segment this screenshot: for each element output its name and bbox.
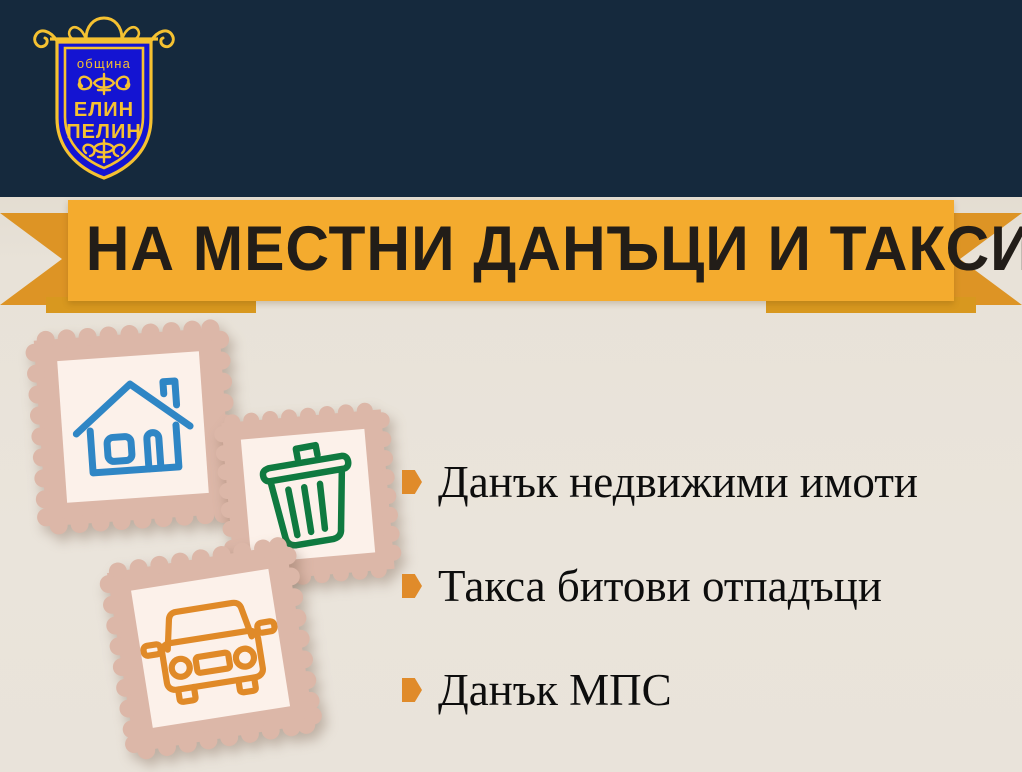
scroll-right bbox=[151, 31, 173, 47]
crest-top-arch bbox=[86, 18, 122, 39]
crest-municipality-word: община bbox=[77, 56, 131, 71]
arrow-bullet-icon bbox=[402, 678, 422, 702]
list-item-label: Данък МПС bbox=[438, 665, 672, 715]
crest-name-line-1: ЕЛИН bbox=[74, 99, 134, 121]
crest-svg: община ЕЛИН ПЕЛИН bbox=[24, 8, 184, 188]
list-item[interactable]: Такса битови отпадъци bbox=[402, 534, 1012, 638]
list-item[interactable]: Данък недвижими имоти bbox=[402, 430, 1012, 534]
scroll-left bbox=[35, 31, 57, 47]
arrow-bullet-icon bbox=[402, 574, 422, 598]
stamp-vehicle-tax bbox=[98, 536, 323, 766]
ribbon-banner: НА МЕСТНИ ДАНЪЦИ И ТАКСИ bbox=[0, 196, 1022, 316]
list-item-label: Данък недвижими имоти bbox=[438, 457, 918, 507]
stamp-3-svg bbox=[98, 536, 323, 761]
stamp-3-paper bbox=[131, 569, 290, 728]
ribbon-label: НА МЕСТНИ ДАНЪЦИ И ТАКСИ bbox=[86, 214, 937, 284]
stamp-3-group bbox=[98, 536, 323, 761]
ribbon-main-panel: НА МЕСТНИ ДАНЪЦИ И ТАКСИ bbox=[68, 200, 954, 301]
list-item-label: Такса битови отпадъци bbox=[438, 561, 882, 611]
arrow-bullet-icon bbox=[402, 470, 422, 494]
tax-types-list: Данък недвижими имоти Такса битови отпад… bbox=[402, 430, 1012, 742]
poster-root: ПРОВЕРКА И ПЛАЩАНЕ НА ЗАДЪЛЖЕНИЯ община bbox=[0, 0, 1022, 772]
municipality-crest-logo: община ЕЛИН ПЕЛИН bbox=[24, 8, 184, 188]
list-item[interactable]: Данък МПС bbox=[402, 638, 1012, 742]
